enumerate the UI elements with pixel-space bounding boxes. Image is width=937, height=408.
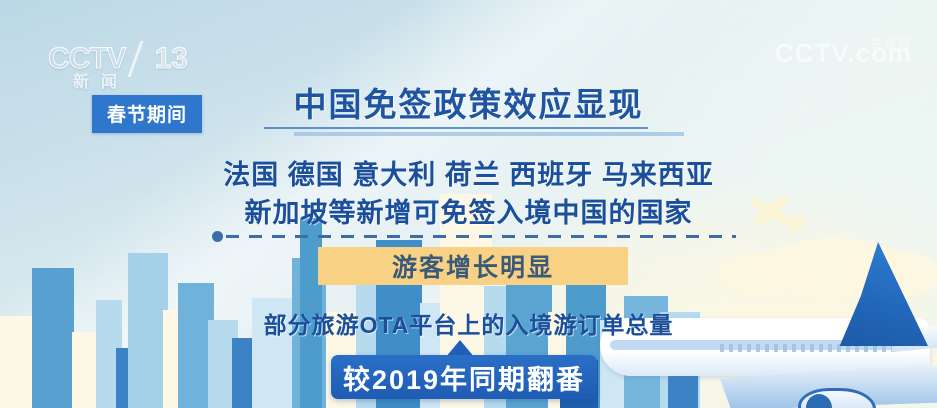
highlight-callout-label: 游客增长明显	[392, 248, 554, 284]
title-underline	[264, 127, 648, 129]
dashed-separator	[212, 231, 736, 243]
cctv-channel-number: 13	[155, 42, 188, 76]
separator-dot-icon	[212, 231, 223, 242]
page-title: 中国免签政策效应显现	[0, 78, 937, 126]
ota-statistic-line: 部分旅游OTA平台上的入境游订单总量	[0, 306, 937, 340]
conclusion-banner: 较2019年同期翻番	[331, 355, 597, 399]
news-graphic-stage: CCTV 13 新闻 春节期间 央视网 CCTV.com 中国免签政策效应显现 …	[0, 0, 937, 408]
conclusion-banner-label: 较2019年同期翻番	[343, 358, 585, 397]
country-list: 法国 德国 意大利 荷兰 西班牙 马来西亚 新加坡等新增可免签入境中国的国家	[0, 156, 937, 232]
title-underline-secondary	[294, 132, 684, 136]
country-list-line-2: 新加坡等新增可免签入境中国的国家	[0, 194, 937, 232]
separator-dashed-line	[226, 235, 736, 238]
highlight-callout: 游客增长明显	[318, 247, 628, 285]
country-list-line-1: 法国 德国 意大利 荷兰 西班牙 马来西亚	[0, 156, 937, 194]
